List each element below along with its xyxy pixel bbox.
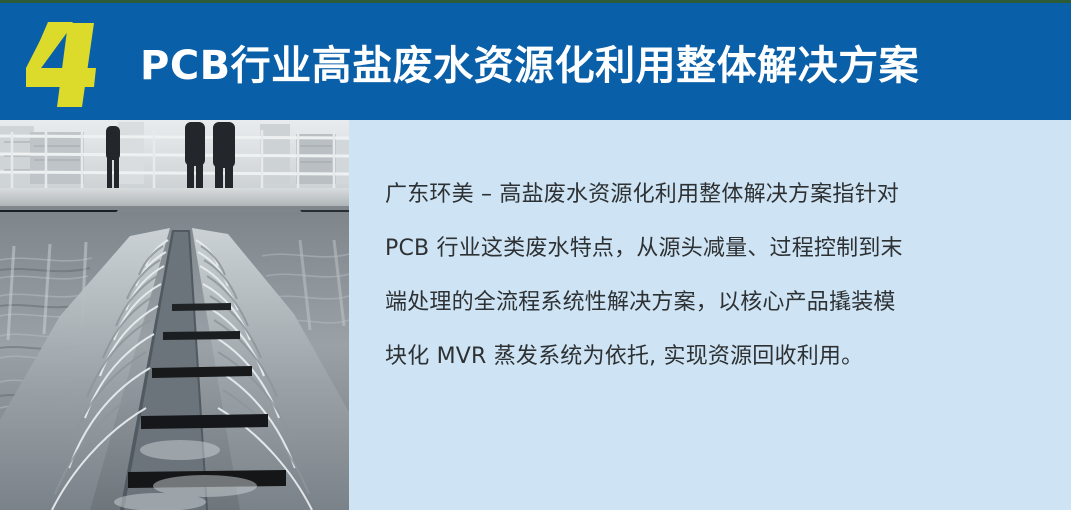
numeral-four-icon <box>26 21 126 109</box>
description-line: PCB 行业这类废水特点，从源头减量、过程控制到末 <box>385 222 1030 276</box>
description-text: 广东环美 – 高盐废水资源化利用整体解决方案指针对 PCB 行业这类废水特点，从… <box>385 168 1030 384</box>
description-panel: 广东环美 – 高盐废水资源化利用整体解决方案指针对 PCB 行业这类废水特点，从… <box>349 120 1071 510</box>
section-number-badge <box>26 21 126 109</box>
hero-photo <box>0 120 349 510</box>
wastewater-plant-photo-illustration <box>0 120 349 510</box>
description-line: 块化 MVR 蒸发系统为依托, 实现资源回收利用。 <box>385 330 1030 384</box>
description-line: 端处理的全流程系统性解决方案，以核心产品撬装模 <box>385 276 1030 330</box>
page-title: PCB行业高盐废水资源化利用整体解决方案 <box>140 3 919 120</box>
header-band: PCB行业高盐废水资源化利用整体解决方案 <box>0 3 1071 120</box>
slide-root: PCB行业高盐废水资源化利用整体解决方案 <box>0 0 1071 510</box>
description-line: 广东环美 – 高盐废水资源化利用整体解决方案指针对 <box>385 168 1030 222</box>
